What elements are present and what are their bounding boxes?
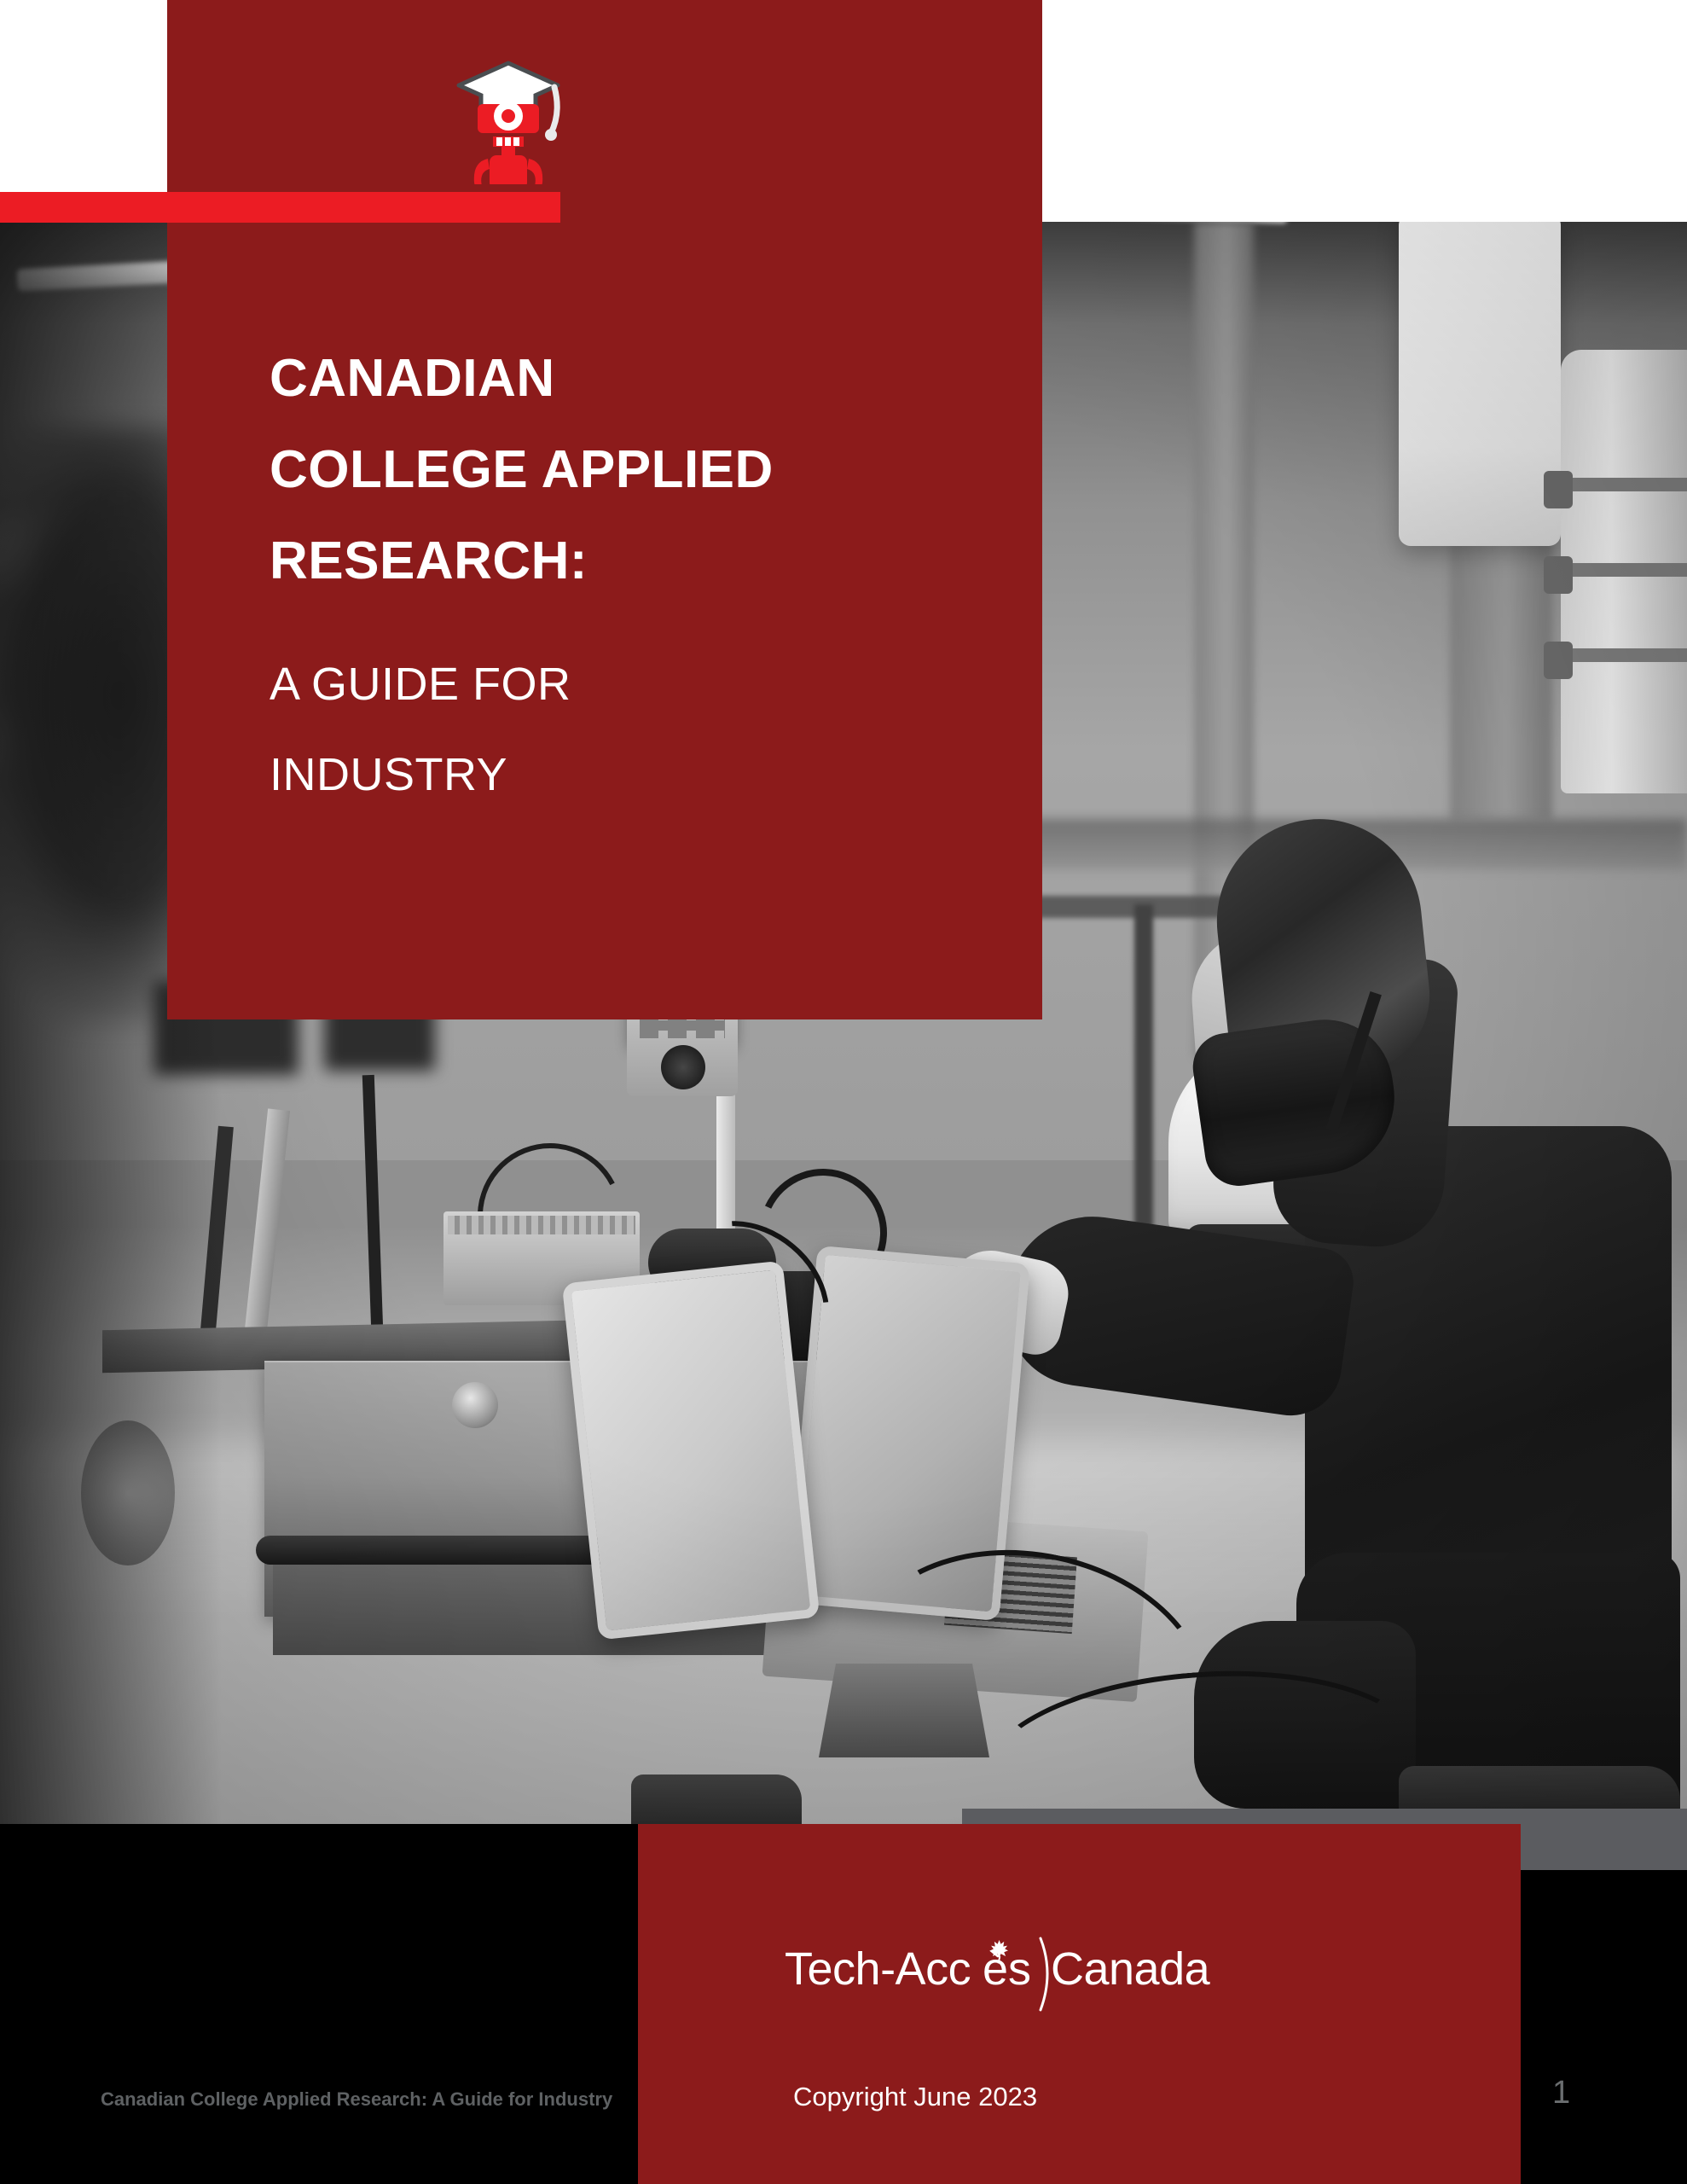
page-subtitle-line-1: A GUIDE FOR bbox=[270, 639, 901, 729]
page-title-line-2: COLLEGE APPLIED bbox=[270, 424, 901, 515]
svg-text:ès: ès bbox=[983, 1943, 1031, 1995]
svg-text:Tech-Acc: Tech-Acc bbox=[785, 1943, 971, 1995]
cover-page: 05 bbox=[0, 0, 1687, 2184]
svg-text:Canada: Canada bbox=[1051, 1943, 1211, 1995]
page-subtitle-line-2: INDUSTRY bbox=[270, 729, 901, 820]
page-title-line-1: CANADIAN bbox=[270, 333, 901, 424]
footer-document-title: Canadian College Applied Research: A Gui… bbox=[101, 2088, 664, 2111]
footer-copyright: Copyright June 2023 bbox=[793, 2082, 1037, 2112]
robot-graduate-logo bbox=[440, 48, 577, 184]
page-title-line-3: RESEARCH: bbox=[270, 515, 901, 607]
red-accent-bar bbox=[0, 192, 560, 223]
page-number: 1 bbox=[1552, 2075, 1570, 2111]
cover-title-block: CANADIAN COLLEGE APPLIED RESEARCH: A GUI… bbox=[270, 333, 901, 820]
tech-acces-canada-logo: Tech-Acc ès Canada bbox=[785, 1935, 1296, 2012]
